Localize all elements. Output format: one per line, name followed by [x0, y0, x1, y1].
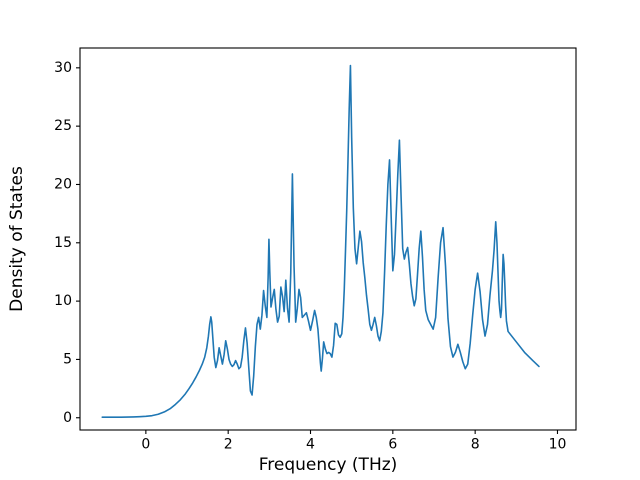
- y-axis-ticks: 051015202530: [54, 60, 80, 426]
- x-axis-ticks: 0246810: [141, 430, 566, 453]
- x-tick-label: 8: [471, 437, 480, 453]
- y-tick-label: 20: [54, 176, 72, 192]
- x-tick-label: 4: [306, 437, 315, 453]
- figure-canvas: 0246810 051015202530 Frequency (THz) Den…: [0, 0, 640, 480]
- y-tick-label: 5: [63, 351, 72, 367]
- y-tick-label: 30: [54, 60, 72, 76]
- density-of-states-chart: 0246810 051015202530 Frequency (THz) Den…: [0, 0, 640, 480]
- x-tick-label: 6: [388, 437, 397, 453]
- y-tick-label: 15: [54, 235, 72, 251]
- y-tick-label: 0: [63, 410, 72, 426]
- x-tick-label: 0: [141, 437, 150, 453]
- y-tick-label: 25: [54, 118, 72, 134]
- x-axis-label: Frequency (THz): [259, 455, 398, 475]
- x-tick-label: 10: [549, 437, 567, 453]
- y-axis-label: Density of States: [7, 166, 27, 312]
- plot-area-background: [80, 48, 576, 430]
- x-tick-label: 2: [224, 437, 233, 453]
- y-tick-label: 10: [54, 293, 72, 309]
